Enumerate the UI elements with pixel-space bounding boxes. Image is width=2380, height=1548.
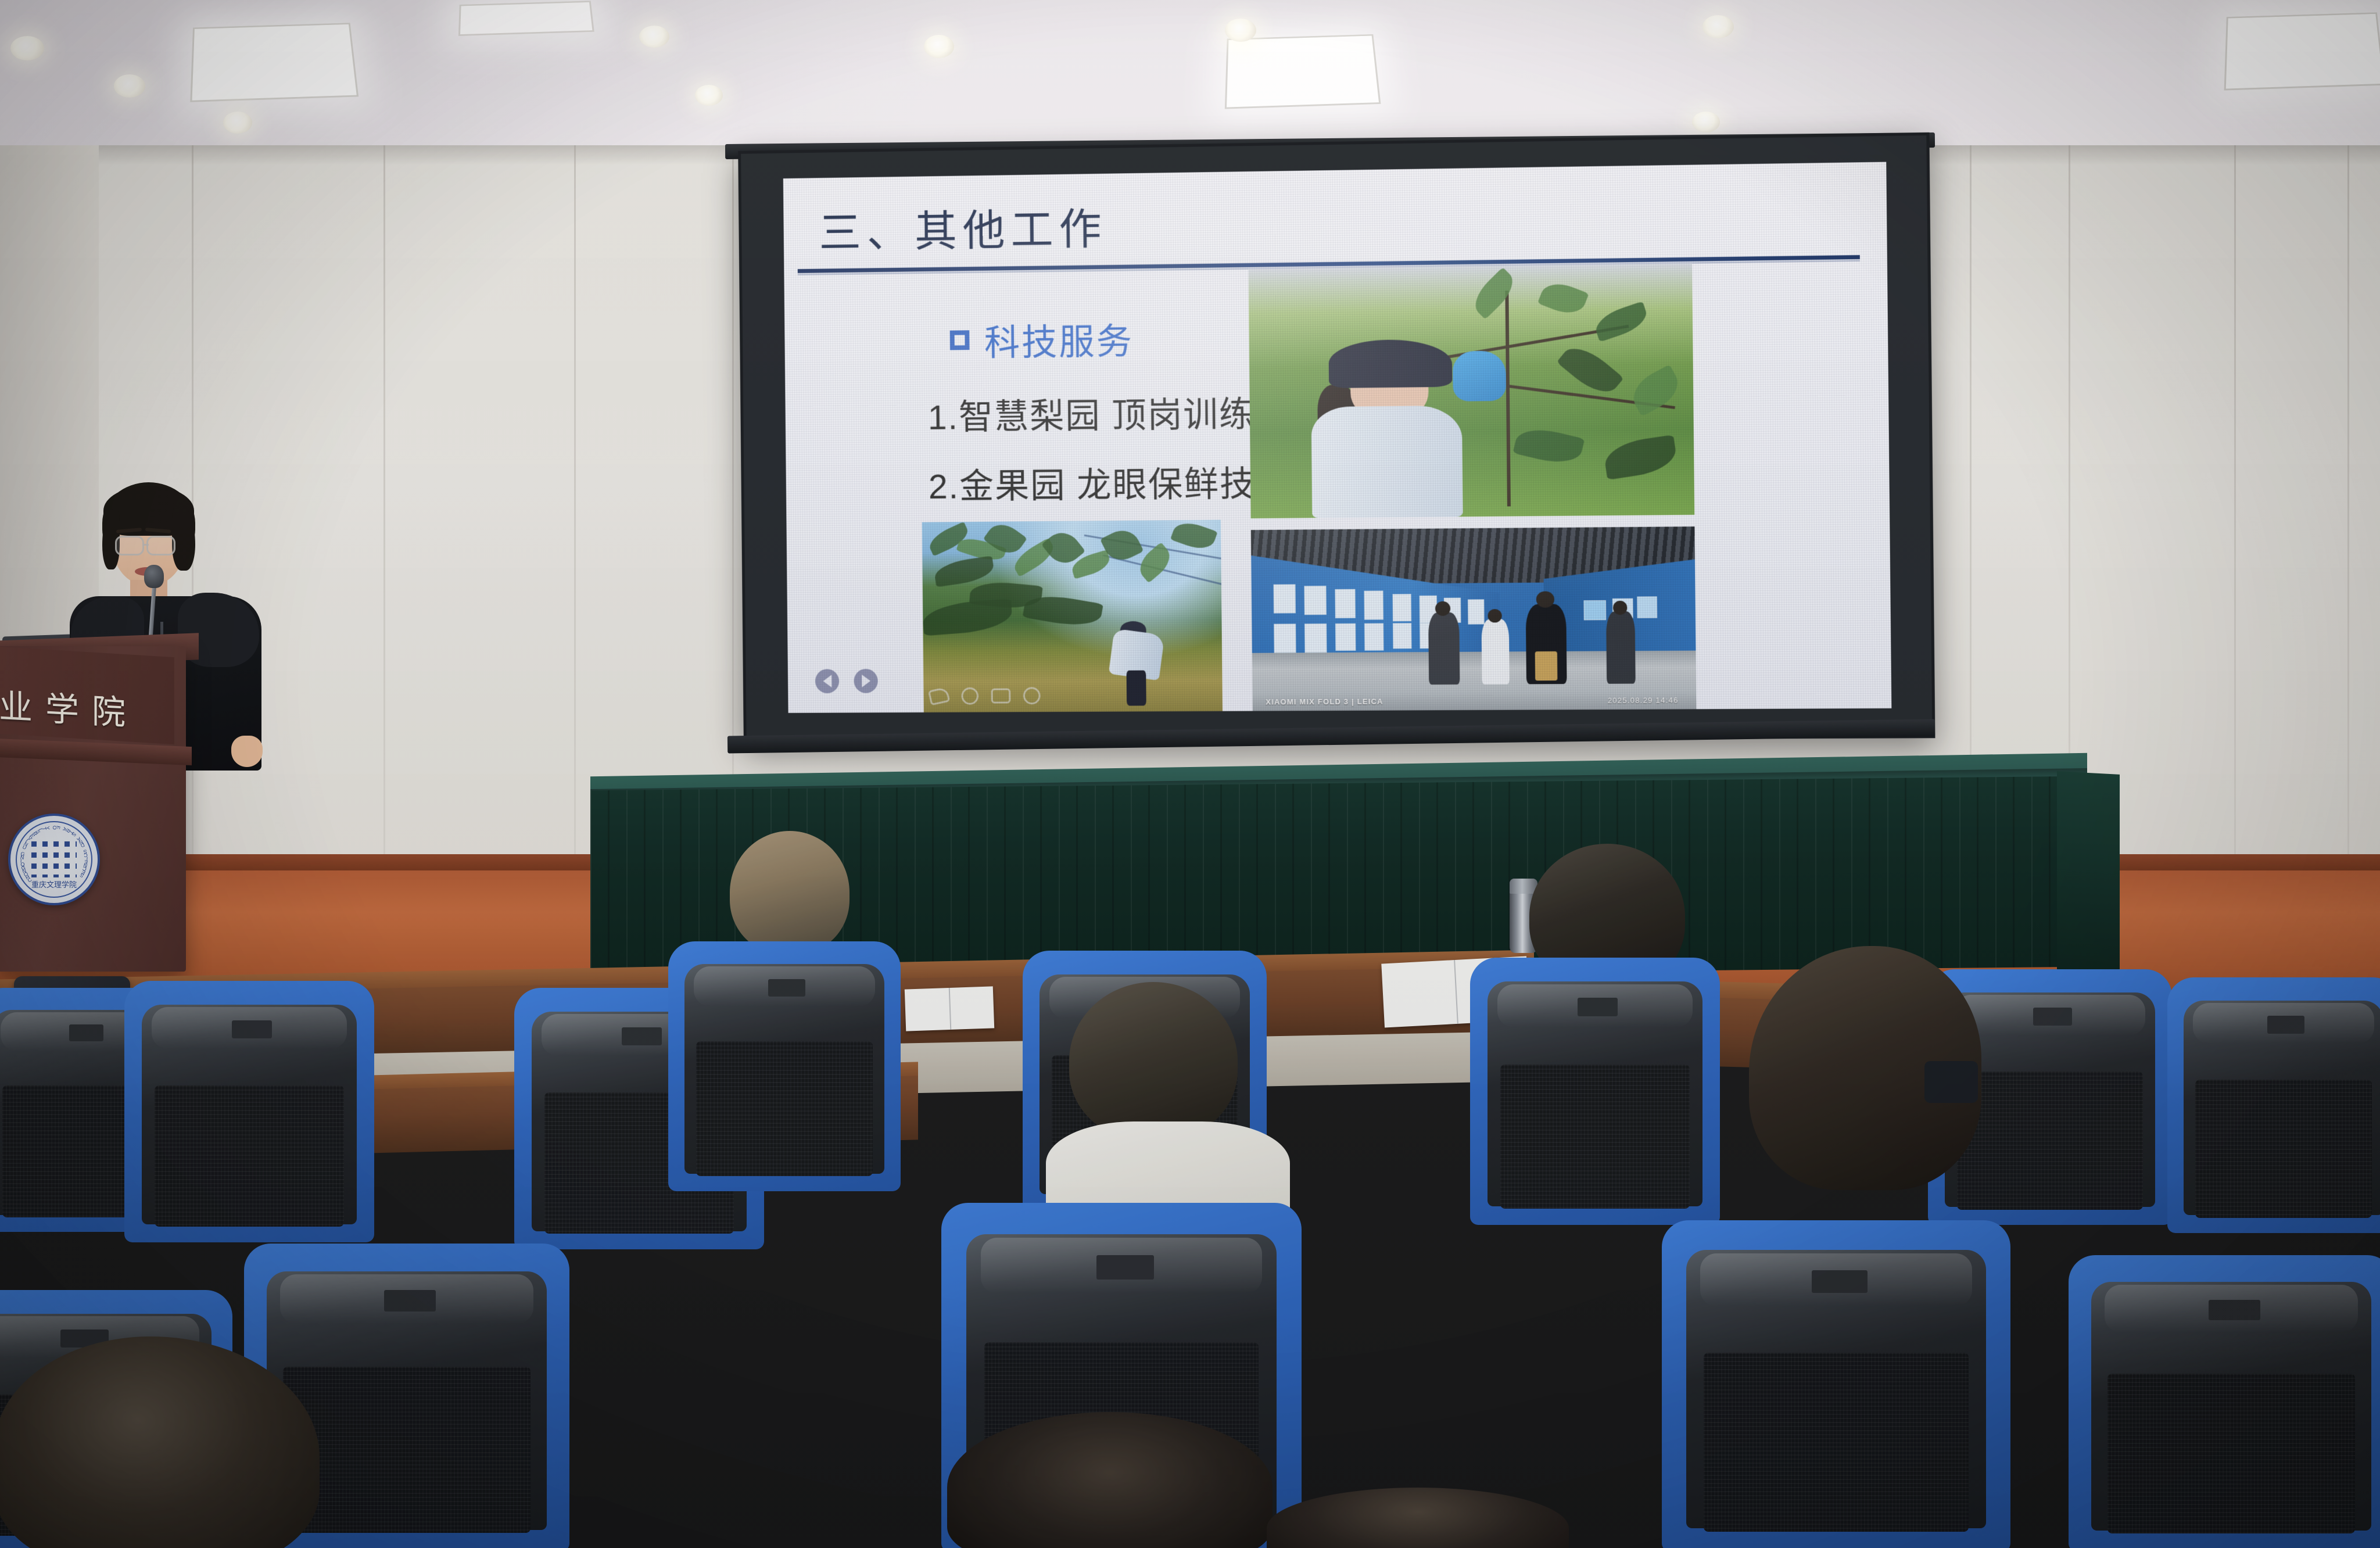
square-bullet-icon bbox=[950, 330, 970, 350]
ceiling-downlight bbox=[924, 35, 954, 58]
slide-bullet-label: 科技服务 bbox=[984, 312, 1134, 366]
focus-icon bbox=[962, 687, 979, 705]
attendee-hair-clip bbox=[1924, 1061, 1978, 1103]
camera-icon bbox=[991, 688, 1011, 703]
field-worker-figure bbox=[1110, 616, 1162, 704]
visitor-figure bbox=[1606, 611, 1635, 684]
ceiling-downlight bbox=[1225, 19, 1256, 42]
auditorium-seat[interactable] bbox=[1662, 1220, 2010, 1548]
auditorium-seat[interactable] bbox=[1470, 958, 1720, 1225]
visitor-figure bbox=[1428, 612, 1460, 685]
attendee bbox=[947, 1412, 1273, 1548]
next-slide-button[interactable] bbox=[854, 669, 878, 693]
podium-institution-name: 业学院 bbox=[0, 679, 169, 736]
attendee bbox=[1267, 1488, 1569, 1548]
ceiling-downlight bbox=[695, 85, 723, 106]
tag-icon bbox=[928, 687, 950, 705]
auditorium-seat[interactable] bbox=[668, 941, 901, 1191]
visitor-bag bbox=[1535, 651, 1558, 680]
slide-title: 三、其他工作 bbox=[819, 195, 1107, 260]
projection-screen: 三、其他工作 科技服务 1.智慧梨园 顶岗训练 2.金果园 龙眼保鲜技术支持 bbox=[738, 132, 1935, 743]
orchard-worker-figure bbox=[1311, 331, 1463, 518]
ceiling-downlight bbox=[1692, 112, 1720, 132]
ceiling-panel-light bbox=[2224, 12, 2380, 90]
video-overlay-icons bbox=[930, 687, 1041, 705]
university-emblem: 重庆文理学院 CHONGQING UNIVERSITY OF ARTS AND … bbox=[8, 814, 100, 905]
auditorium-seat[interactable] bbox=[124, 981, 374, 1242]
prev-slide-button[interactable] bbox=[815, 669, 840, 693]
ceiling-downlight bbox=[114, 74, 145, 98]
emblem-english-name: CHONGQING UNIVERSITY OF ARTS AND SCIENCE… bbox=[17, 822, 91, 897]
presentation-slide: 三、其他工作 科技服务 1.智慧梨园 顶岗训练 2.金果园 龙眼保鲜技术支持 bbox=[783, 162, 1892, 713]
ceiling-panel-light bbox=[190, 23, 359, 102]
ceiling-downlight bbox=[639, 26, 669, 48]
attendee bbox=[0, 1336, 320, 1548]
blue-glove bbox=[1452, 351, 1506, 402]
visitor-head bbox=[1435, 601, 1450, 615]
attendee-head bbox=[730, 831, 850, 954]
ceiling-panel-light bbox=[1225, 34, 1381, 109]
ceiling-panel-light bbox=[458, 1, 594, 36]
presenter-glasses bbox=[115, 536, 144, 556]
attendee-head bbox=[0, 1336, 320, 1548]
conference-room-scene: 三、其他工作 科技服务 1.智慧梨园 顶岗训练 2.金果园 龙眼保鲜技术支持 bbox=[0, 0, 2380, 1548]
ceiling-downlight bbox=[10, 36, 44, 60]
photo-watermark-device: XIAOMI MIX FOLD 3 | LEICA bbox=[1266, 697, 1383, 707]
auditorium-seat[interactable] bbox=[2167, 977, 2380, 1233]
ceiling-downlight bbox=[223, 112, 252, 134]
auditorium-seat[interactable] bbox=[2069, 1255, 2380, 1548]
orchard-inspection-photo bbox=[1248, 263, 1694, 518]
orchard-field-photo bbox=[922, 520, 1223, 712]
slide-bullet-row: 科技服务 bbox=[949, 312, 1134, 366]
attendee-head bbox=[1267, 1488, 1569, 1548]
visitor-figure bbox=[1482, 619, 1510, 685]
more-icon bbox=[1023, 687, 1041, 704]
photo-watermark-timestamp: 2025.08.29 14:46 bbox=[1608, 696, 1679, 705]
ceiling-downlight bbox=[1702, 15, 1734, 38]
open-notebook bbox=[905, 986, 994, 1031]
microphone-head bbox=[144, 565, 164, 588]
slide-nav-controls[interactable] bbox=[815, 669, 878, 693]
exhibition-hall-photo: XIAOMI MIX FOLD 3 | LEICA 2025.08.29 14:… bbox=[1251, 526, 1697, 711]
attendee-head bbox=[1069, 982, 1238, 1140]
slide-item-1: 1.智慧梨园 顶岗训练 bbox=[927, 386, 1255, 439]
presenter-hand bbox=[231, 736, 263, 767]
presenter-glasses bbox=[146, 536, 175, 556]
attendee-head bbox=[947, 1412, 1273, 1548]
